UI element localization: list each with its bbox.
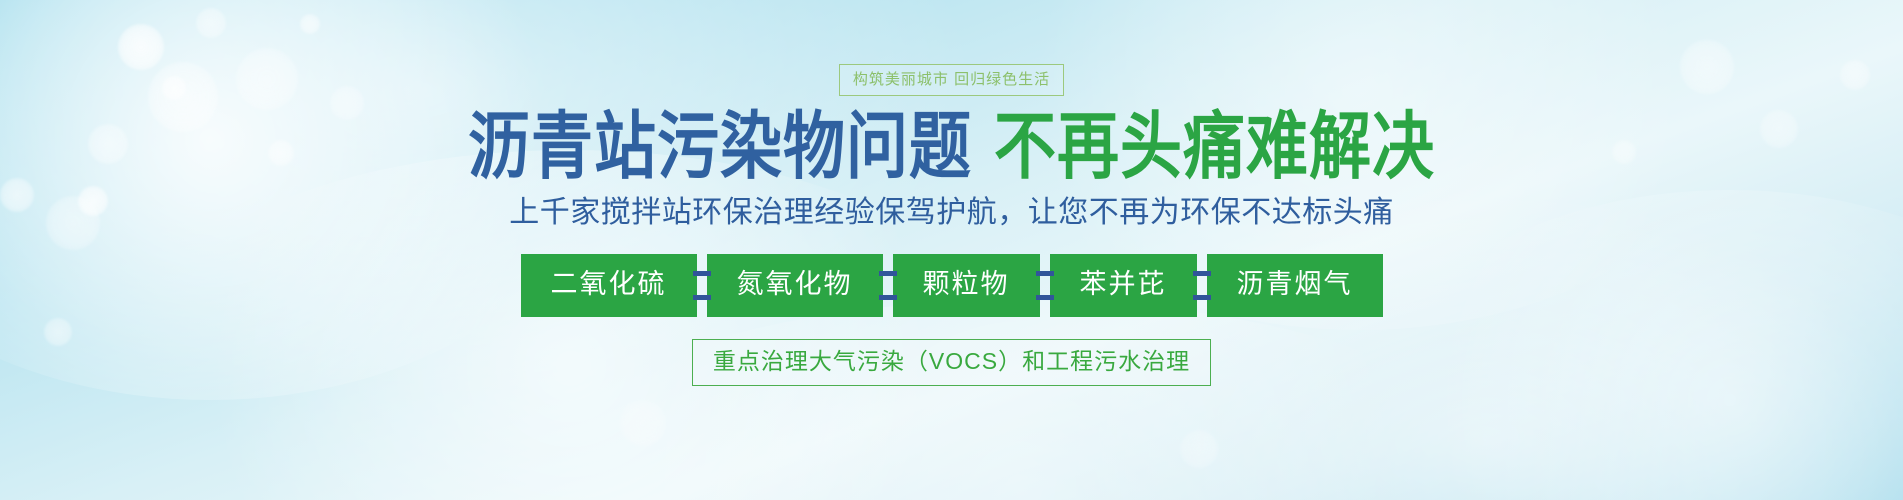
banner-tagline: 构筑美丽城市 回归绿色生活: [839, 64, 1064, 96]
pollutant-tag[interactable]: 氮氧化物: [707, 254, 883, 317]
tag-separator: [697, 257, 707, 314]
hero-banner: 构筑美丽城市 回归绿色生活 沥青站污染物问题 不再头痛难解决 上千家搅拌站环保治…: [0, 0, 1903, 500]
banner-footer-note: 重点治理大气污染（VOCS）和工程污水治理: [692, 339, 1211, 386]
banner-content: 构筑美丽城市 回归绿色生活 沥青站污染物问题 不再头痛难解决 上千家搅拌站环保治…: [0, 0, 1903, 500]
tag-separator: [1040, 257, 1050, 314]
pollutant-tag-list: 二氧化硫氮氧化物颗粒物苯并芘沥青烟气: [521, 254, 1383, 317]
headline-primary-text: 沥青站污染物问题: [468, 110, 972, 183]
pollutant-tag[interactable]: 颗粒物: [893, 254, 1040, 317]
headline-secondary-text: 不再头痛难解决: [994, 110, 1435, 183]
pollutant-tag[interactable]: 沥青烟气: [1207, 254, 1383, 317]
pollutant-tag[interactable]: 苯并芘: [1050, 254, 1197, 317]
pollutant-tag[interactable]: 二氧化硫: [521, 254, 697, 317]
banner-headline: 沥青站污染物问题 不再头痛难解决: [468, 110, 1435, 183]
tag-separator: [1197, 257, 1207, 314]
banner-subtitle: 上千家搅拌站环保治理经验保驾护航，让您不再为环保不达标头痛: [509, 198, 1394, 228]
tag-separator: [883, 257, 893, 314]
